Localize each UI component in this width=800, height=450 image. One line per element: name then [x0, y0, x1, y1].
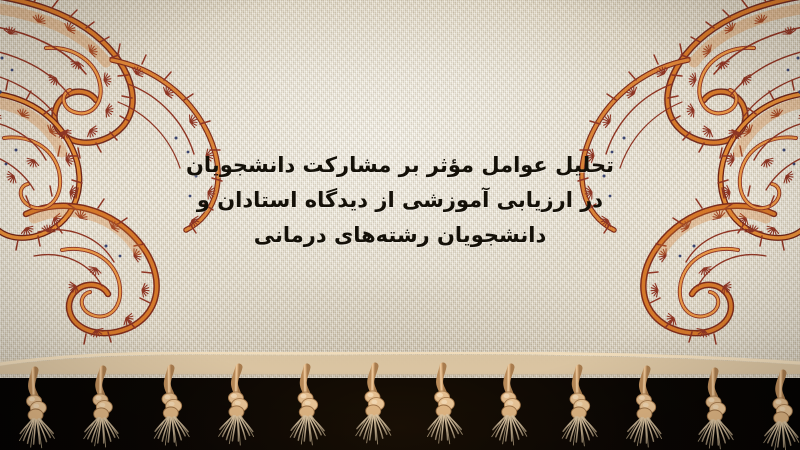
title-line-2: در ارزیابی آموزشی از دیدگاه استادان و [0, 183, 800, 218]
page-title: تحلیل عوامل مؤثر بر مشارکت دانشجویان در … [0, 148, 800, 253]
textile-title-card: تحلیل عوامل مؤثر بر مشارکت دانشجویان در … [0, 0, 800, 450]
title-line-1: تحلیل عوامل مؤثر بر مشارکت دانشجویان [0, 148, 800, 183]
title-line-3: دانشجویان رشته‌های درمانی [0, 218, 800, 253]
